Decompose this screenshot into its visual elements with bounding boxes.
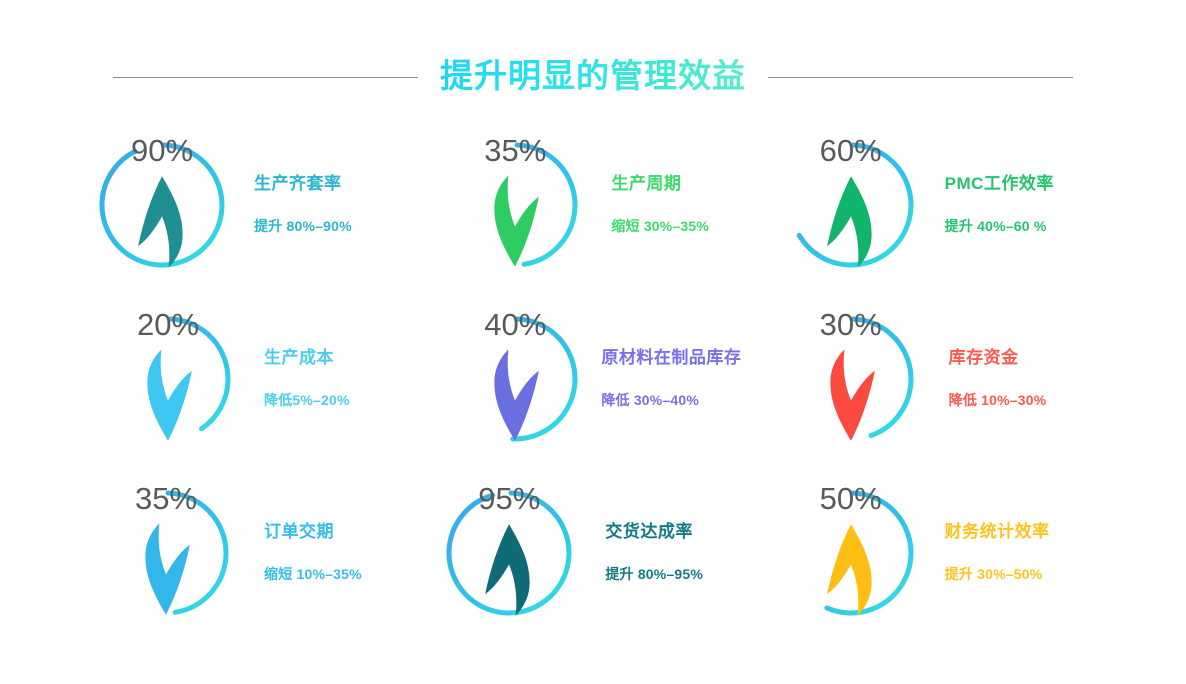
metric-subtitle: 缩短 30%–35%	[611, 216, 709, 236]
metric-subtitle: 提升 30%–50%	[945, 564, 1050, 584]
metric-value: 95%	[478, 483, 540, 514]
metric-title: 原材料在制品库存	[601, 348, 741, 368]
metric-card: 40% 原材料在制品库存 降低 30%–40%	[431, 292, 762, 466]
arrow-up-icon	[92, 168, 232, 275]
metric-card: 50% 财务统计效率 提升 30%–50%	[771, 466, 1102, 640]
metric-subtitle: 降低5%–20%	[264, 390, 350, 410]
metric-card: 35% 订单交期 缩短 10%–35%	[92, 466, 423, 640]
metric-title: 财务统计效率	[945, 522, 1050, 542]
ring-center: 50%	[781, 483, 921, 623]
progress-ring: 90%	[92, 135, 232, 275]
progress-ring: 35%	[96, 483, 236, 623]
metric-value: 35%	[484, 135, 546, 166]
metric-title: PMC工作效率	[945, 174, 1054, 194]
ring-center: 40%	[445, 309, 585, 449]
metric-card: 20% 生产成本 降低5%–20%	[92, 292, 423, 466]
metric-subtitle: 提升 80%–95%	[605, 564, 703, 584]
metric-card: 95% 交货达成率 提升 80%–95%	[431, 466, 762, 640]
metric-card: 60% PMC工作效率 提升 40%–60 %	[771, 118, 1102, 292]
arrow-down-icon	[98, 342, 238, 449]
arrow-up-icon	[781, 168, 921, 275]
progress-ring: 40%	[445, 309, 585, 449]
ring-center: 60%	[781, 135, 921, 275]
arrow-up-icon	[781, 516, 921, 623]
metric-value: 40%	[484, 309, 546, 340]
metric-text: PMC工作效率 提升 40%–60 %	[945, 174, 1054, 236]
progress-ring: 50%	[781, 483, 921, 623]
progress-ring: 95%	[439, 483, 579, 623]
title-rule-right	[768, 77, 1073, 78]
progress-ring: 35%	[445, 135, 585, 275]
metric-title: 生产周期	[611, 174, 709, 194]
metric-text: 生产成本 降低5%–20%	[264, 348, 350, 410]
metric-value: 50%	[820, 483, 882, 514]
ring-center: 90%	[92, 135, 232, 275]
metric-text: 订单交期 缩短 10%–35%	[264, 522, 362, 584]
metric-text: 原材料在制品库存 降低 30%–40%	[601, 348, 741, 410]
arrow-down-icon	[445, 168, 585, 275]
progress-ring: 20%	[98, 309, 238, 449]
metric-title: 生产成本	[264, 348, 350, 368]
metric-value: 35%	[135, 483, 197, 514]
metric-card: 35% 生产周期 缩短 30%–35%	[431, 118, 762, 292]
metric-title: 交货达成率	[605, 522, 703, 542]
metric-card: 30% 库存资金 降低 10%–30%	[771, 292, 1102, 466]
progress-ring: 30%	[781, 309, 921, 449]
ring-center: 20%	[98, 309, 238, 449]
arrow-down-icon	[445, 342, 585, 449]
ring-center: 35%	[96, 483, 236, 623]
metric-value: 20%	[137, 309, 199, 340]
metric-text: 生产周期 缩短 30%–35%	[611, 174, 709, 236]
progress-ring: 60%	[781, 135, 921, 275]
metric-text: 交货达成率 提升 80%–95%	[605, 522, 703, 584]
metric-title: 生产齐套率	[254, 174, 352, 194]
metric-subtitle: 降低 30%–40%	[601, 390, 741, 410]
metric-value: 30%	[820, 309, 882, 340]
arrow-down-icon	[781, 342, 921, 449]
metric-text: 财务统计效率 提升 30%–50%	[945, 522, 1050, 584]
ring-center: 35%	[445, 135, 585, 275]
metric-text: 库存资金 降低 10%–30%	[949, 348, 1047, 410]
metric-subtitle: 降低 10%–30%	[949, 390, 1047, 410]
metrics-grid: 90% 生产齐套率 提升 80%–90%	[92, 118, 1102, 640]
title-rule-left	[113, 77, 418, 78]
metric-value: 60%	[820, 135, 882, 166]
metric-subtitle: 提升 40%–60 %	[945, 216, 1054, 236]
page-title: 提升明显的管理效益	[440, 59, 746, 96]
metric-title: 订单交期	[264, 522, 362, 542]
metric-title: 库存资金	[949, 348, 1047, 368]
ring-center: 95%	[439, 483, 579, 623]
ring-center: 30%	[781, 309, 921, 449]
arrow-up-icon	[439, 516, 579, 623]
metric-value: 90%	[131, 135, 193, 166]
metric-subtitle: 提升 80%–90%	[254, 216, 352, 236]
metric-subtitle: 缩短 10%–35%	[264, 564, 362, 584]
arrow-down-icon	[96, 516, 236, 623]
metric-card: 90% 生产齐套率 提升 80%–90%	[92, 118, 423, 292]
metric-text: 生产齐套率 提升 80%–90%	[254, 174, 352, 236]
page-header: 提升明显的管理效益	[0, 52, 1186, 102]
